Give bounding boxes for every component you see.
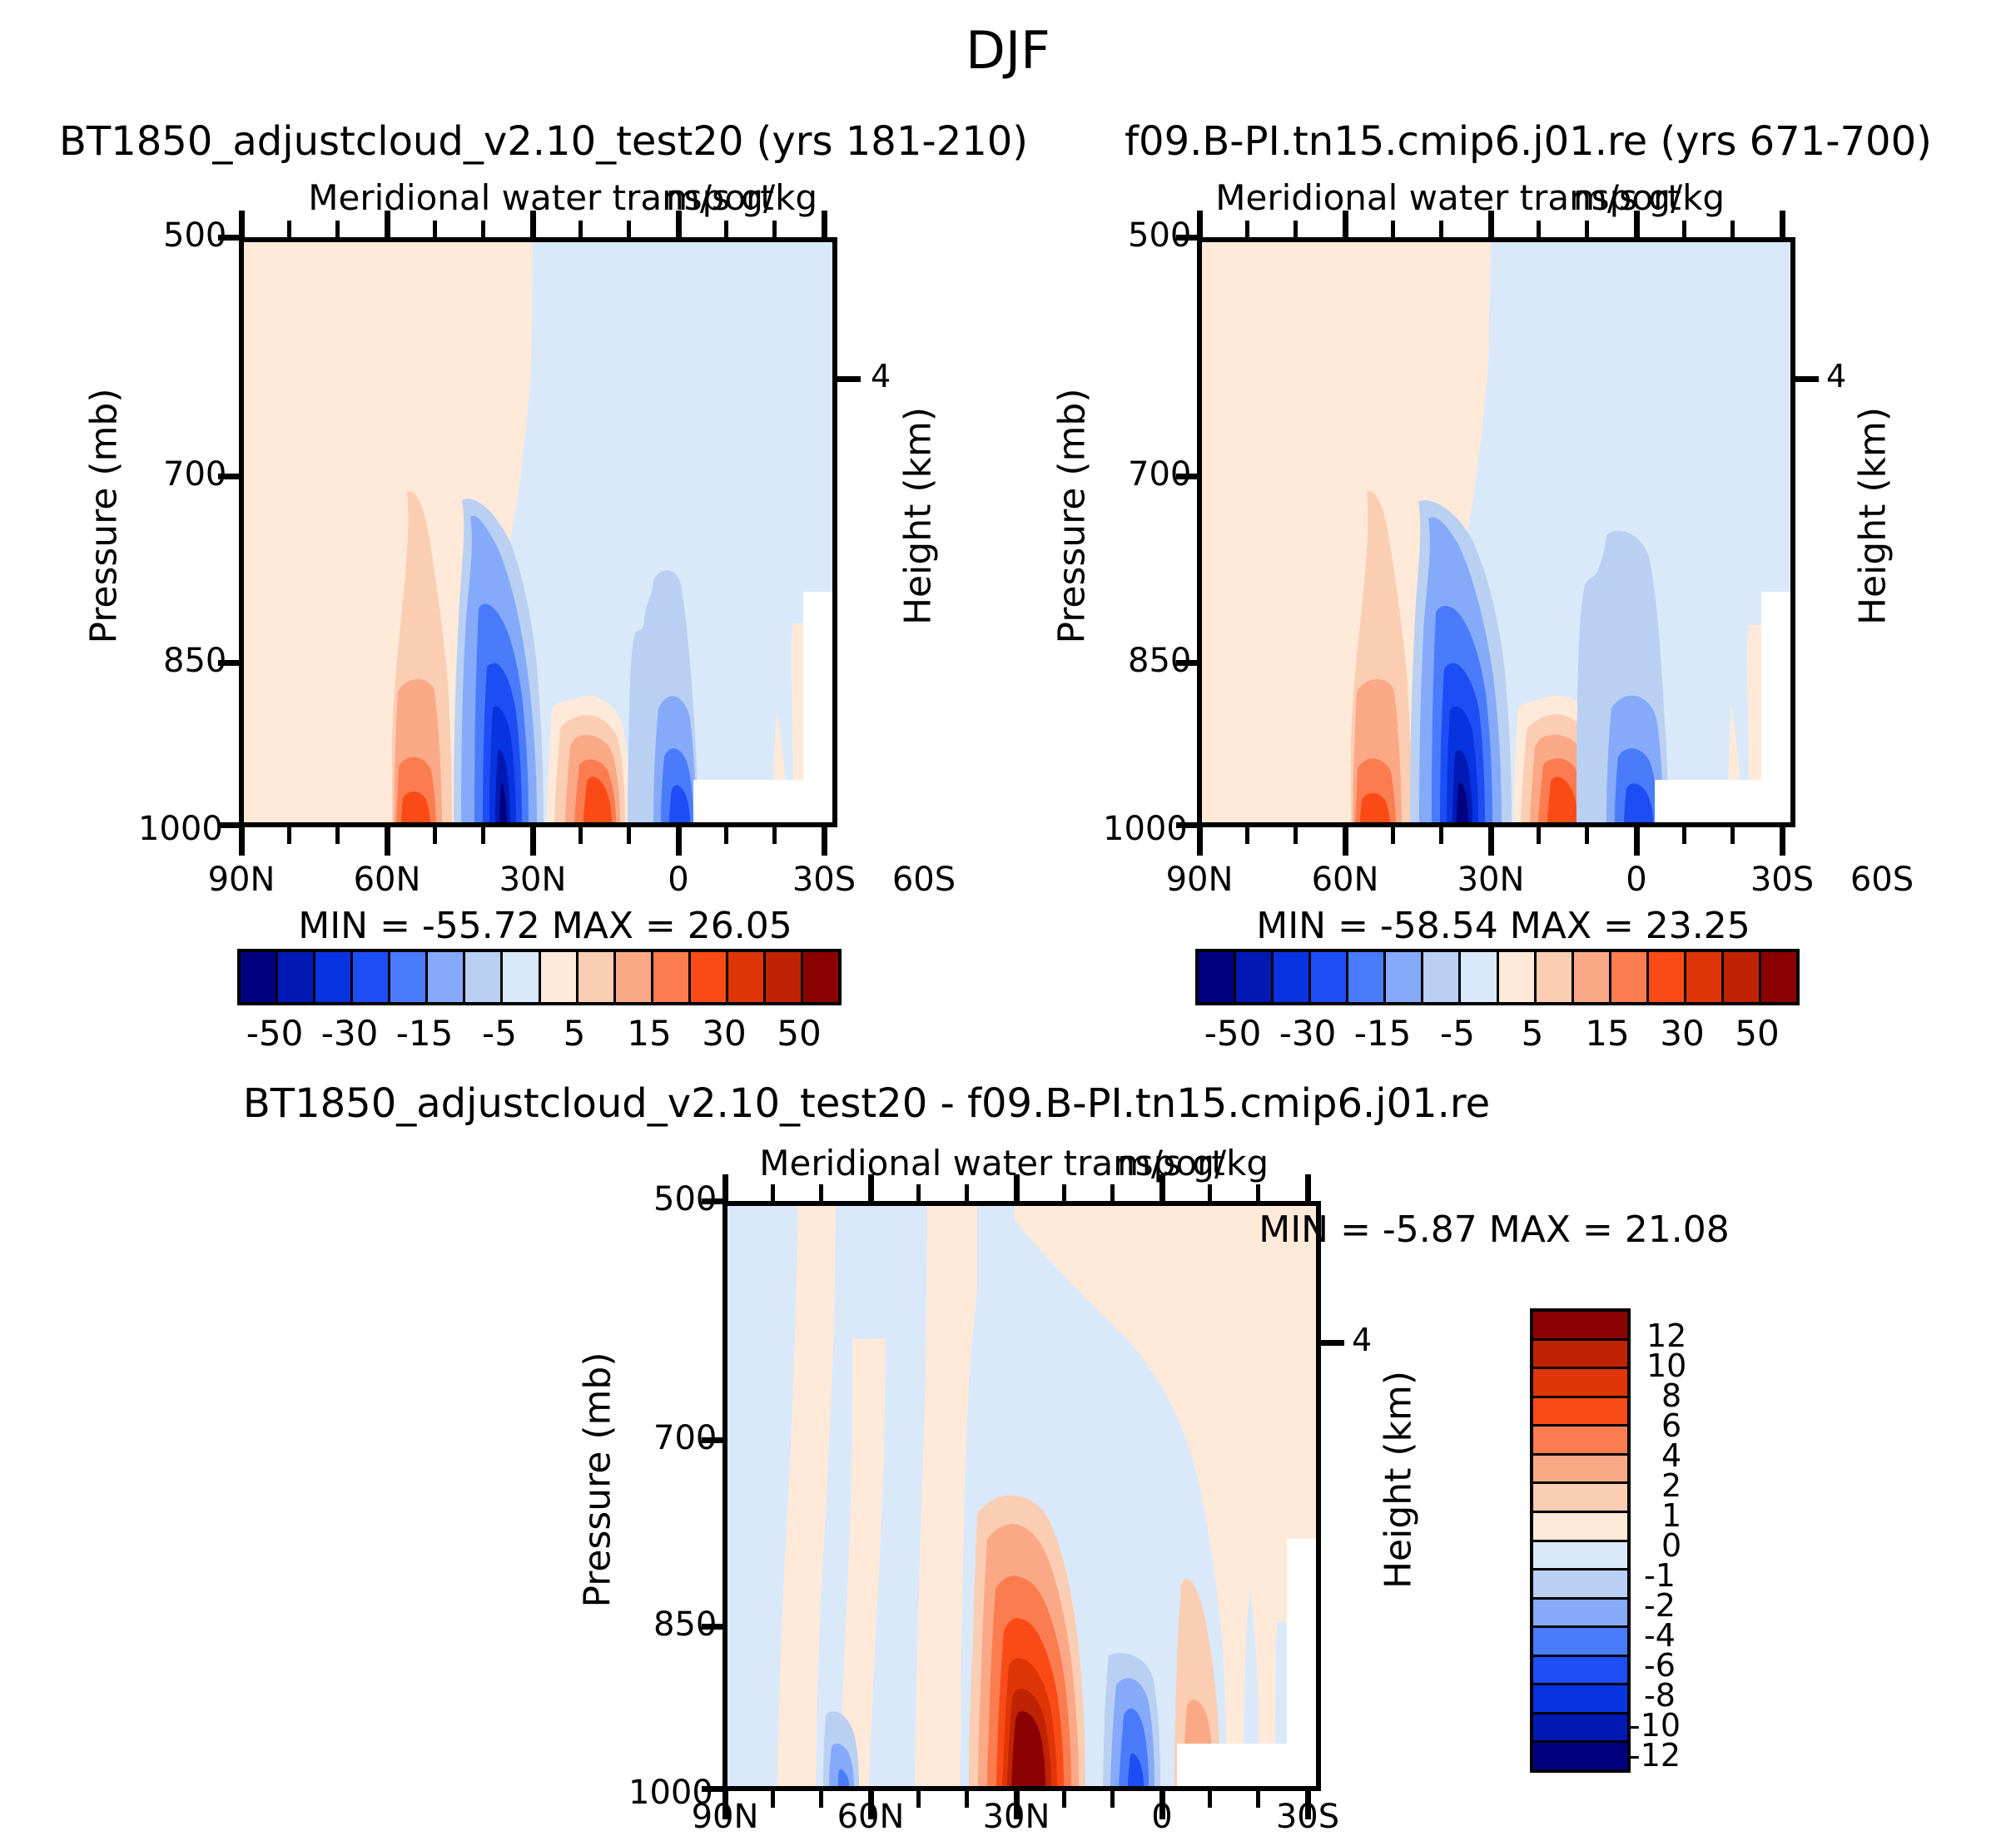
colorbar-right-label: 30 [1660, 1013, 1704, 1054]
panel-left-xtick-60N: 60N [354, 861, 421, 899]
panel-right-xtick-0: 0 [1626, 861, 1646, 899]
panel-left-top-tick [335, 221, 340, 239]
panel-diff-bot-tick [916, 1789, 921, 1808]
panel-right-xtick-90N: 90N [1166, 861, 1234, 899]
panel-diff-bot-tick [1110, 1789, 1115, 1808]
colorbar-left-cell [428, 952, 465, 1002]
panel-left-y2axis-label: Height (km) [897, 407, 940, 625]
colorbar-diff-cell [1533, 1628, 1627, 1657]
panel-left-ytick-850: 850 [163, 642, 213, 680]
panel-left-ytick-mark-1000 [218, 822, 241, 828]
colorbar-right-cell [1348, 952, 1386, 1002]
colorbar-left [237, 949, 842, 1005]
panel-left-bot-tick [335, 826, 340, 844]
panel-diff-ytick-mark-500 [702, 1198, 725, 1204]
colorbar-left-label: -15 [396, 1013, 454, 1054]
colorbar-diff-cell [1533, 1312, 1627, 1341]
colorbar-right-cell [1686, 952, 1724, 1002]
panel-left-xtick-60S: 60S [892, 861, 956, 899]
panel-diff-top-tick [965, 1184, 969, 1203]
colorbar-left-label: -30 [321, 1013, 379, 1054]
colorbar-diff-cell [1533, 1456, 1627, 1485]
panel-left-top-tick [433, 221, 437, 239]
panel-diff-xtick-60N: 60N [837, 1798, 905, 1836]
panel-diff-y2tick-4: 4 [1352, 1322, 1372, 1358]
panel-right-xtick-60N: 60N [1312, 861, 1379, 899]
colorbar-right-cell [1649, 952, 1686, 1002]
colorbar-left-label: -50 [246, 1013, 304, 1054]
panel-diff-bot-tick [1208, 1789, 1212, 1808]
colorbar-right-cell [1199, 952, 1236, 1002]
panel-left-yaxis-label: Pressure (mb) [83, 389, 126, 644]
panel-diff-bot-tick [1256, 1789, 1260, 1808]
panel-diff-top-tick [819, 1184, 823, 1203]
colorbar-left-cell [241, 952, 278, 1002]
colorbar-diff-cell [1533, 1600, 1627, 1629]
panel-diff-top-tick [771, 1184, 775, 1203]
colorbar-left-cell [728, 952, 766, 1002]
panel-diff-ytick-mark-1000 [702, 1786, 725, 1792]
panel-left-xtick-90N: 90N [208, 861, 276, 899]
panel-right-title: f09.B-PI.tn15.cmip6.j01.re (yrs 671-700) [1125, 118, 1932, 165]
colorbar-left-cell [353, 952, 390, 1002]
panel-diff-top-tick [1256, 1184, 1260, 1203]
panel-left-ytick-mark-850 [218, 660, 241, 666]
panel-right-bot-tick [1294, 826, 1298, 844]
panel-left-top-tick [481, 221, 485, 239]
panel-right-y2axis-label: Height (km) [1852, 407, 1894, 625]
colorbar-diff-cell [1533, 1398, 1627, 1427]
panel-diff-xtick-0: 0 [1151, 1798, 1172, 1836]
panel-left-ytick-500: 500 [163, 216, 213, 255]
panel-diff-units-label: m/s g/kg [1117, 1143, 1269, 1183]
panel-diff-bot-tick [819, 1789, 823, 1808]
panel-left-bot-tick [676, 826, 682, 856]
panel-left-bot-tick [433, 826, 437, 844]
panel-diff-bot-tick [965, 1789, 969, 1808]
colorbar-right-label: 15 [1585, 1013, 1629, 1054]
panel-right-y2tick-4: 4 [1826, 358, 1846, 394]
colorbar-right-cell [1386, 952, 1423, 1002]
colorbar-right-label: 50 [1735, 1013, 1779, 1054]
panel-diff-y2axis-label: Height (km) [1378, 1371, 1420, 1589]
panel-left-stats: MIN = -55.72 MAX = 26.05 [298, 905, 792, 947]
panel-right-ytick-mark-500 [1176, 235, 1199, 241]
panel-left-bot-tick [627, 826, 631, 844]
colorbar-left-cell [653, 952, 691, 1002]
panel-left-bot-tick [239, 826, 245, 856]
panel-diff-top-tick [722, 1174, 728, 1203]
panel-left-ytick-1000: 1000 [138, 810, 213, 848]
panel-left-bot-tick [578, 826, 583, 844]
panel-diff-xtick-90N: 90N [692, 1798, 759, 1836]
colorbar-left-cell [390, 952, 428, 1002]
panel-right-top-tick [1585, 221, 1589, 239]
colorbar-diff-cell [1533, 1571, 1627, 1600]
colorbar-right-cell [1461, 952, 1498, 1002]
colorbar-diff-cell [1533, 1484, 1627, 1513]
panel-left-xtick-30N: 30N [499, 861, 567, 899]
panel-diff-top-tick [1305, 1174, 1311, 1203]
colorbar-left-label: 30 [702, 1013, 746, 1054]
panel-left-y2tick-mark-4 [836, 376, 861, 382]
panel-left-top-tick [627, 221, 631, 239]
panel-left-top-tick [239, 211, 245, 239]
panel-diff-y2tick-mark-4 [1319, 1340, 1344, 1346]
panel-left-top-tick [772, 221, 777, 239]
panel-left-ytick-700: 700 [163, 455, 213, 494]
colorbar-left-label: 5 [564, 1013, 586, 1054]
panel-right-bot-tick [1634, 826, 1640, 856]
panel-left-top-tick [822, 211, 827, 239]
panel-right-units-label: m/s g/kg [1573, 177, 1725, 218]
colorbar-left-cell [766, 952, 803, 1002]
panel-diff-xtick-30S: 30S [1276, 1798, 1339, 1836]
colorbar-diff [1530, 1308, 1631, 1773]
colorbar-right-cell [1311, 952, 1348, 1002]
panel-right-top-tick [1730, 221, 1735, 239]
panel-left-bot-tick [530, 826, 536, 856]
panel-diff-contour-field [727, 1206, 1316, 1786]
panel-left-bot-tick [772, 826, 777, 844]
panel-right-top-tick [1245, 221, 1249, 239]
panel-diff-ytick-mark-850 [702, 1624, 725, 1630]
colorbar-left-cell [315, 952, 353, 1002]
panel-right-bot-tick [1488, 826, 1494, 856]
colorbar-right-cell [1574, 952, 1611, 1002]
colorbar-diff-cell [1533, 1743, 1627, 1769]
panel-diff-title: BT1850_adjustcloud_v2.10_test20 - f09.B-… [243, 1080, 1490, 1127]
colorbar-left-label: 15 [627, 1013, 671, 1054]
panel-right-bot-tick [1245, 826, 1249, 844]
colorbar-right [1195, 949, 1800, 1005]
colorbar-left-label: 50 [777, 1013, 821, 1054]
panel-right-top-tick [1197, 211, 1203, 239]
colorbar-right-label: 5 [1522, 1013, 1544, 1054]
colorbar-right-label: -5 [1440, 1013, 1475, 1054]
panel-right-top-tick [1682, 221, 1686, 239]
panel-right-ytick-850: 850 [1128, 642, 1178, 680]
panel-left-bot-tick [481, 826, 485, 844]
colorbar-diff-cell [1533, 1685, 1627, 1714]
panel-diff-ytick-mark-700 [702, 1437, 725, 1443]
colorbar-right-label: -50 [1204, 1013, 1262, 1054]
panel-right-top-tick [1391, 221, 1395, 239]
panel-right-ytick-700: 700 [1128, 455, 1178, 494]
panel-left-xtick-0: 0 [668, 861, 688, 899]
panel-left-plot [239, 237, 837, 827]
panel-diff-ytick-850: 850 [653, 1605, 703, 1644]
panel-right-bot-tick [1439, 826, 1443, 844]
panel-right-plot [1197, 237, 1795, 827]
panel-diff-bot-tick [1062, 1789, 1066, 1808]
panel-right-y2tick-mark-4 [1794, 376, 1819, 382]
panel-left-y2tick-4: 4 [871, 358, 891, 394]
panel-left-top-tick [724, 221, 728, 239]
colorbar-left-label: -5 [482, 1013, 517, 1054]
panel-left-ytick-mark-500 [218, 235, 241, 241]
panel-diff-ytick-500: 500 [653, 1180, 703, 1218]
panel-right-top-tick [1537, 221, 1541, 239]
panel-diff-top-tick [916, 1184, 921, 1203]
panel-right-bot-tick [1537, 826, 1541, 844]
colorbar-right-label: -30 [1279, 1013, 1337, 1054]
panel-diff-plot [722, 1201, 1321, 1791]
colorbar-left-cell [691, 952, 728, 1002]
panel-left-top-tick [676, 211, 682, 239]
colorbar-left-cell [616, 952, 653, 1002]
panel-diff-ytick-700: 700 [653, 1419, 703, 1457]
panel-left-contour-field [244, 242, 832, 822]
panel-right-xtick-60S: 60S [1850, 861, 1914, 899]
panel-diff-top-tick [1208, 1184, 1212, 1203]
colorbar-right-cell [1423, 952, 1461, 1002]
panel-right-contour-field [1202, 242, 1790, 822]
panel-right-ytick-1000: 1000 [1103, 810, 1178, 848]
panel-right-stats: MIN = -58.54 MAX = 23.25 [1256, 905, 1750, 947]
colorbar-diff-cell [1533, 1427, 1627, 1456]
panel-diff-stats: MIN = -5.87 MAX = 21.08 [1259, 1208, 1730, 1251]
colorbar-right-cell [1724, 952, 1761, 1002]
colorbar-diff-cell [1533, 1657, 1627, 1686]
panel-left-bot-tick [724, 826, 728, 844]
panel-left-xtick-30S: 30S [792, 861, 856, 899]
panel-right-bot-tick [1780, 826, 1785, 856]
panel-left-bot-tick [822, 826, 827, 856]
colorbar-diff-cell [1533, 1513, 1627, 1542]
panel-right-bot-tick [1343, 826, 1348, 856]
colorbar-diff-cell [1533, 1714, 1627, 1744]
colorbar-right-cell [1537, 952, 1574, 1002]
panel-right-bot-tick [1197, 826, 1203, 856]
colorbar-right-cell [1236, 952, 1274, 1002]
colorbar-right-cell [1499, 952, 1537, 1002]
panel-right-bot-tick [1585, 826, 1589, 844]
panel-diff-bot-tick [771, 1789, 775, 1808]
colorbar-diff-cell [1533, 1369, 1627, 1398]
panel-left-title: BT1850_adjustcloud_v2.10_test20 (yrs 181… [59, 118, 1028, 165]
panel-diff-top-tick [1014, 1174, 1020, 1203]
panel-diff-top-tick [868, 1174, 874, 1203]
panel-right-top-tick [1343, 211, 1348, 239]
colorbar-right-cell [1274, 952, 1311, 1002]
colorbar-left-cell [578, 952, 616, 1002]
panel-right-top-tick [1294, 221, 1298, 239]
panel-right-top-tick [1488, 211, 1494, 239]
panel-right-xtick-30N: 30N [1457, 861, 1525, 899]
colorbar-left-cell [278, 952, 315, 1002]
panel-left-top-tick [287, 221, 291, 239]
colorbar-diff-cell [1533, 1341, 1627, 1370]
panel-diff-top-tick [1159, 1174, 1165, 1203]
panel-right-yaxis-label: Pressure (mb) [1051, 389, 1094, 644]
panel-right-ytick-500: 500 [1128, 216, 1178, 255]
colorbar-left-cell [503, 952, 540, 1002]
panel-right-ytick-mark-700 [1176, 474, 1199, 479]
colorbar-right-cell [1611, 952, 1649, 1002]
panel-diff-yaxis-label: Pressure (mb) [577, 1352, 619, 1608]
panel-right-ytick-mark-1000 [1176, 822, 1199, 828]
panel-right-xtick-30S: 30S [1750, 861, 1814, 899]
panel-right-bot-tick [1730, 826, 1735, 844]
colorbar-right-cell [1761, 952, 1796, 1002]
panel-right-ytick-mark-850 [1176, 660, 1199, 666]
panel-right-bot-tick [1682, 826, 1686, 844]
colorbar-diff-label: -12 [1629, 1737, 1681, 1774]
colorbar-right-label: -15 [1354, 1013, 1412, 1054]
panel-left-top-tick [385, 211, 390, 239]
season-title: DJF [966, 20, 1050, 81]
panel-diff-xtick-30N: 30N [983, 1798, 1050, 1836]
panel-left-units-label: m/s g/kg [666, 177, 817, 218]
colorbar-diff-cell [1533, 1542, 1627, 1571]
colorbar-left-cell [465, 952, 503, 1002]
panel-left-bot-tick [385, 826, 390, 856]
panel-left-bot-tick [287, 826, 291, 844]
panel-right-top-tick [1634, 211, 1640, 239]
colorbar-left-cell [803, 952, 838, 1002]
panel-left-ytick-mark-700 [218, 474, 241, 479]
panel-diff-top-tick [1110, 1184, 1115, 1203]
panel-diff-top-tick [1062, 1184, 1066, 1203]
panel-left-top-tick [530, 211, 536, 239]
panel-right-top-tick [1439, 221, 1443, 239]
panel-left-top-tick [578, 221, 583, 239]
panel-right-bot-tick [1391, 826, 1395, 844]
panel-right-top-tick [1780, 211, 1785, 239]
colorbar-left-cell [541, 952, 578, 1002]
